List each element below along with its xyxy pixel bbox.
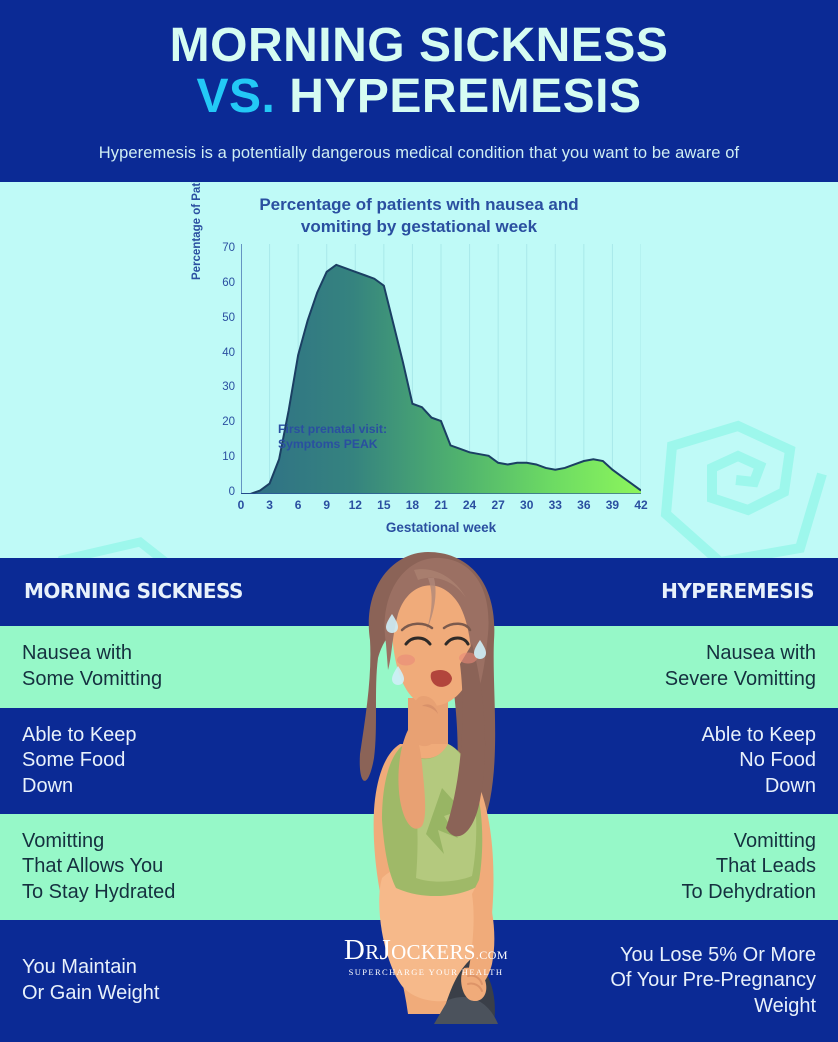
chart-x-tick: 3 <box>266 498 273 512</box>
comparison-row-1-left: Nausea with Some Vomitting <box>22 641 322 692</box>
chart-x-tick: 39 <box>606 498 619 512</box>
comparison-section: MORNING SICKNESS HYPEREMESIS Nausea with… <box>0 558 838 1042</box>
chart-y-tick: 60 <box>209 277 235 289</box>
chart-x-axis-label: Gestational week <box>241 520 641 535</box>
annotation-peak: First prenatal visit: Symptoms PEAK <box>278 422 387 453</box>
comparison-row-2-right: Able to Keep No Food Down <box>516 723 816 800</box>
comparison-row-2: Able to Keep Some Food Down Able to Keep… <box>0 708 838 814</box>
chart-title: Percentage of patients with nausea and v… <box>0 182 838 238</box>
title-vs: VS. <box>197 70 276 123</box>
title-hyperemesis: HYPEREMESIS <box>289 70 641 123</box>
page-title: MORNING SICKNESS VS. HYPEREMESIS <box>0 22 838 122</box>
comparison-header-row: MORNING SICKNESS HYPEREMESIS <box>0 558 838 626</box>
comparison-header-left: MORNING SICKNESS <box>24 579 324 605</box>
chart-x-tick: 42 <box>634 498 647 512</box>
annotation-peak-line2: Symptoms PEAK <box>278 437 387 452</box>
chart-y-axis-label: Percentage of Patients <box>191 182 203 298</box>
chart-x-tick: 30 <box>520 498 533 512</box>
comparison-row-3-left: Vomitting That Allows You To Stay Hydrat… <box>22 829 322 906</box>
chart-y-tick: 30 <box>209 381 235 393</box>
spiral-decoration-left <box>28 534 208 558</box>
chart-x-tick: 9 <box>323 498 330 512</box>
chart-y-tick: 70 <box>209 242 235 254</box>
header-subtitle: Hyperemesis is a potentially dangerous m… <box>0 144 838 163</box>
chart-y-tick: 40 <box>209 347 235 359</box>
title-line-1: MORNING SICKNESS <box>0 22 838 71</box>
chart-x-tick: 21 <box>434 498 447 512</box>
comparison-row-1: Nausea with Some Vomitting Nausea with S… <box>0 626 838 708</box>
chart-plot-wrapper: Percentage of Patients 010203040506070 <box>189 244 649 544</box>
comparison-row-3-right: Vomitting That Leads To Dehydration <box>516 829 816 906</box>
comparison-header-right: HYPEREMESIS <box>514 579 814 605</box>
spiral-decoration-right <box>650 378 830 558</box>
chart-x-tick: 0 <box>238 498 245 512</box>
chart-y-tick: 0 <box>209 486 235 498</box>
comparison-row-1-right: Nausea with Severe Vomitting <box>516 641 816 692</box>
chart-x-tick: 18 <box>406 498 419 512</box>
chart-y-axis-ticks: 010203040506070 <box>207 244 235 494</box>
chart-y-tick: 20 <box>209 416 235 428</box>
annotation-peak-line1: First prenatal visit: <box>278 422 387 437</box>
comparison-row-4-left: You Maintain Or Gain Weight <box>22 955 322 1006</box>
chart-panel: Percentage of patients with nausea and v… <box>0 182 838 558</box>
chart-x-tick: 6 <box>295 498 302 512</box>
chart-plot-area <box>241 244 641 494</box>
chart-x-axis-ticks: 03691215182124273033363942 <box>241 498 641 518</box>
chart-y-tick: 10 <box>209 451 235 463</box>
chart-x-tick: 12 <box>349 498 362 512</box>
chart-x-tick: 24 <box>463 498 476 512</box>
title-line-2: VS. HYPEREMESIS <box>0 73 838 122</box>
comparison-row-3: Vomitting That Allows You To Stay Hydrat… <box>0 814 838 920</box>
comparison-row-2-left: Able to Keep Some Food Down <box>22 723 322 800</box>
comparison-row-4-right: You Lose 5% Or More Of Your Pre-Pregnanc… <box>516 943 816 1020</box>
chart-x-tick: 15 <box>377 498 390 512</box>
chart-y-tick: 50 <box>209 312 235 324</box>
chart-title-line-2: vomiting by gestational week <box>0 216 838 238</box>
chart-x-tick: 33 <box>549 498 562 512</box>
header-banner: MORNING SICKNESS VS. HYPEREMESIS Hyperem… <box>0 0 838 182</box>
chart-title-line-1: Percentage of patients with nausea and <box>0 194 838 216</box>
chart-x-tick: 27 <box>491 498 504 512</box>
chart-x-tick: 36 <box>577 498 590 512</box>
